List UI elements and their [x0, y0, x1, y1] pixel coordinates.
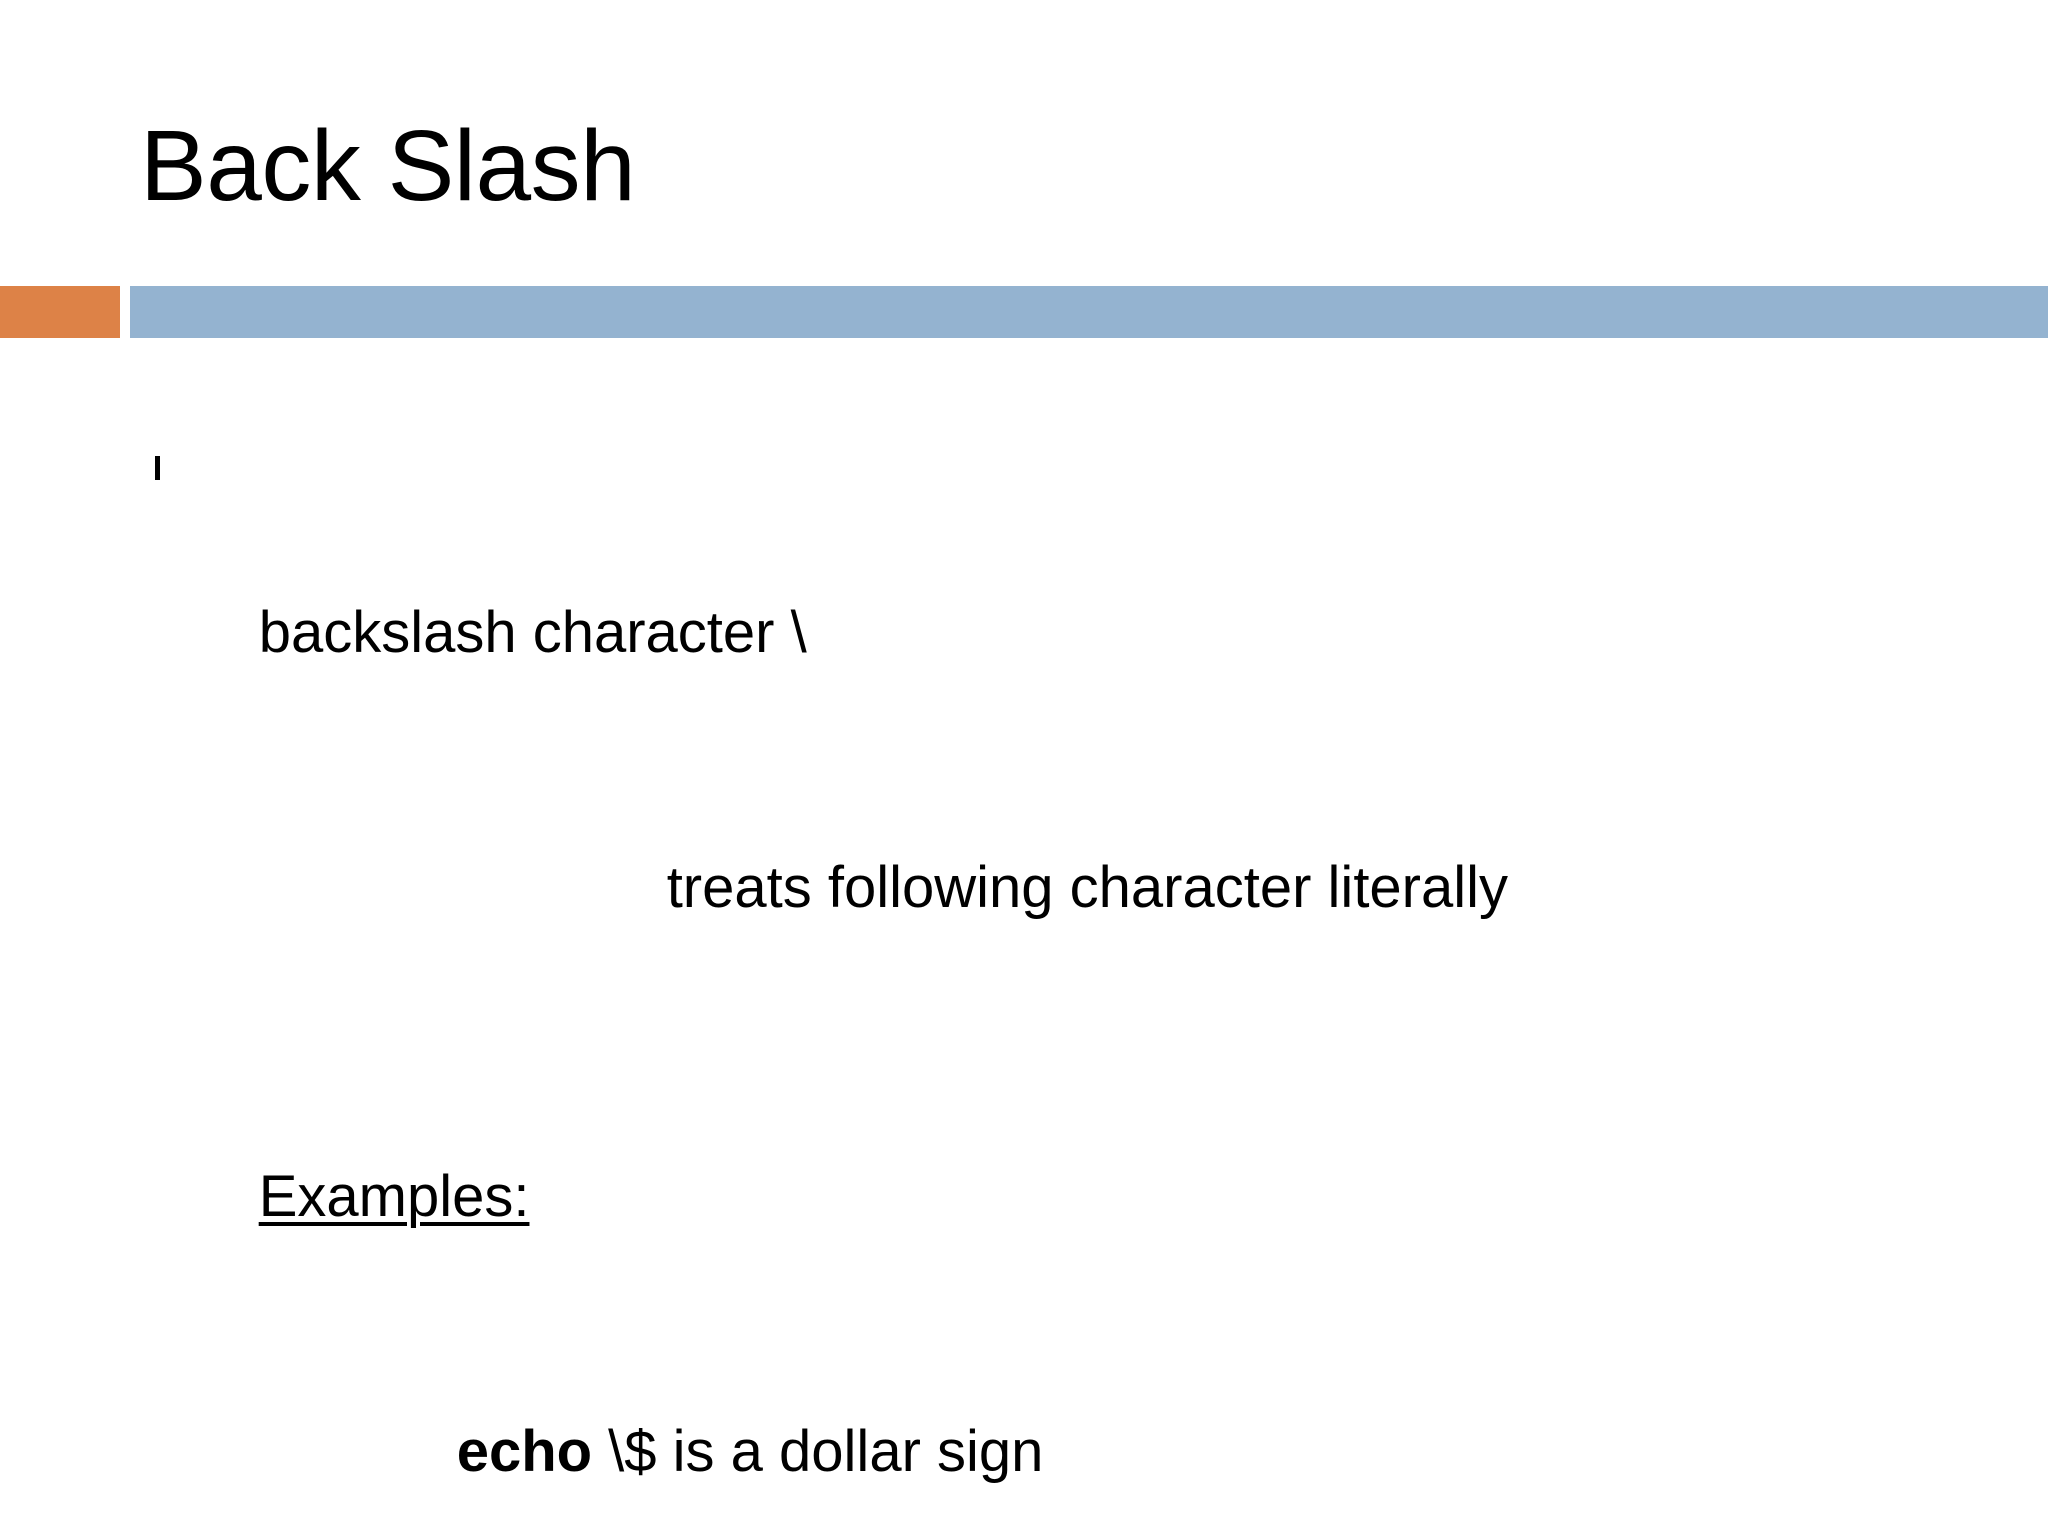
examples-heading: Examples:	[0, 1069, 2048, 1324]
slide-canvas: Back Slash backslash character \ treats …	[0, 0, 2048, 1536]
slide-body: backslash character \ treats following c…	[0, 420, 2048, 1536]
title-divider	[0, 286, 2048, 338]
example-line: echo \$ is a dollar sign	[0, 1324, 2048, 1536]
example-command: echo	[457, 1419, 592, 1484]
page-title: Back Slash	[140, 113, 635, 219]
detail-line-text: treats following character literally	[667, 855, 1508, 920]
divider-rule-bar	[130, 286, 2048, 338]
divider-accent-block	[0, 286, 120, 338]
body-spacer	[0, 1015, 2048, 1069]
body-detail-line: treats following character literally	[0, 760, 2048, 1015]
example-argument: \$ is a dollar sign	[592, 1419, 1043, 1484]
body-bullet-line: backslash character \	[0, 420, 2048, 760]
bullet-line-text: backslash character \	[259, 600, 807, 665]
examples-heading-text: Examples:	[259, 1164, 530, 1229]
bullet-marker-icon	[155, 456, 160, 480]
